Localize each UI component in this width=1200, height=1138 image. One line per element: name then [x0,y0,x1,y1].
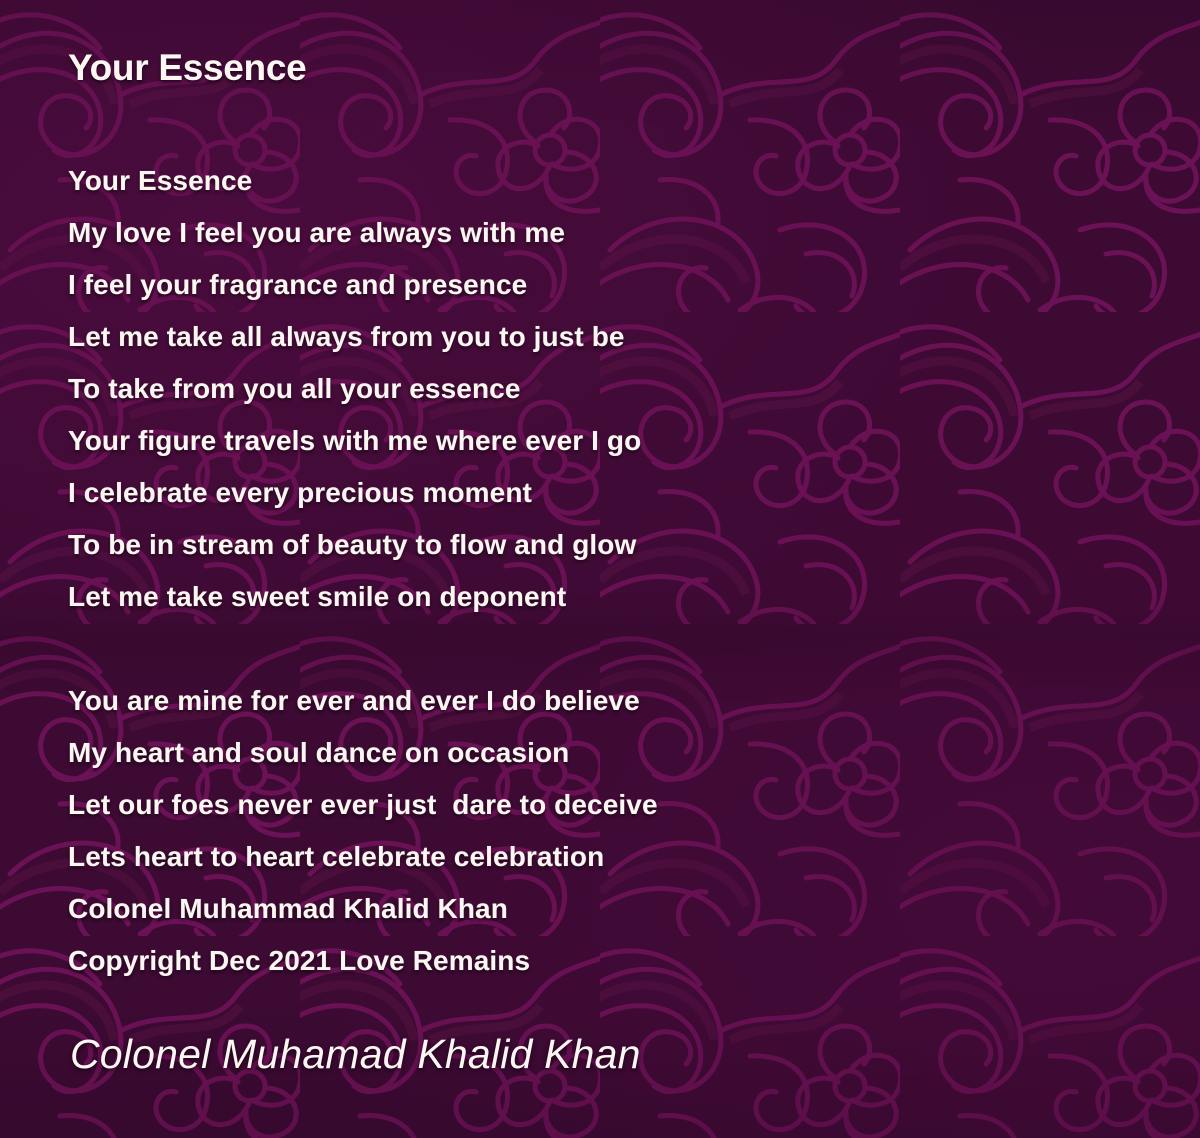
poem-line: I celebrate every precious moment [68,467,1128,519]
poem-line: Lets heart to heart celebrate celebratio… [68,831,1128,883]
poem-body: Your Essence My love I feel you are alwa… [68,155,1128,987]
poem-line-copyright: Copyright Dec 2021 Love Remains [68,935,1128,987]
poem-line-author: Colonel Muhammad Khalid Khan [68,883,1128,935]
poem-line: Let me take sweet smile on deponent [68,571,1128,623]
author-signature: Colonel Muhamad Khalid Khan [70,1031,641,1078]
poem-line: You are mine for ever and ever I do beli… [68,675,1128,727]
poem-line: To be in stream of beauty to flow and gl… [68,519,1128,571]
poem-line: Your Essence [68,155,1128,207]
poem-line-blank [68,623,1128,675]
poem-line: My heart and soul dance on occasion [68,727,1128,779]
poem-line: Let me take all always from you to just … [68,311,1128,363]
poem-line: To take from you all your essence [68,363,1128,415]
poem-line: My love I feel you are always with me [68,207,1128,259]
poem-line: I feel your fragrance and presence [68,259,1128,311]
page-title: Your Essence [68,47,306,89]
poem-line: Let our foes never ever just dare to dec… [68,779,1128,831]
poem-line: Your figure travels with me where ever I… [68,415,1128,467]
poem-card: Your Essence Your Essence My love I feel… [0,0,1200,1138]
